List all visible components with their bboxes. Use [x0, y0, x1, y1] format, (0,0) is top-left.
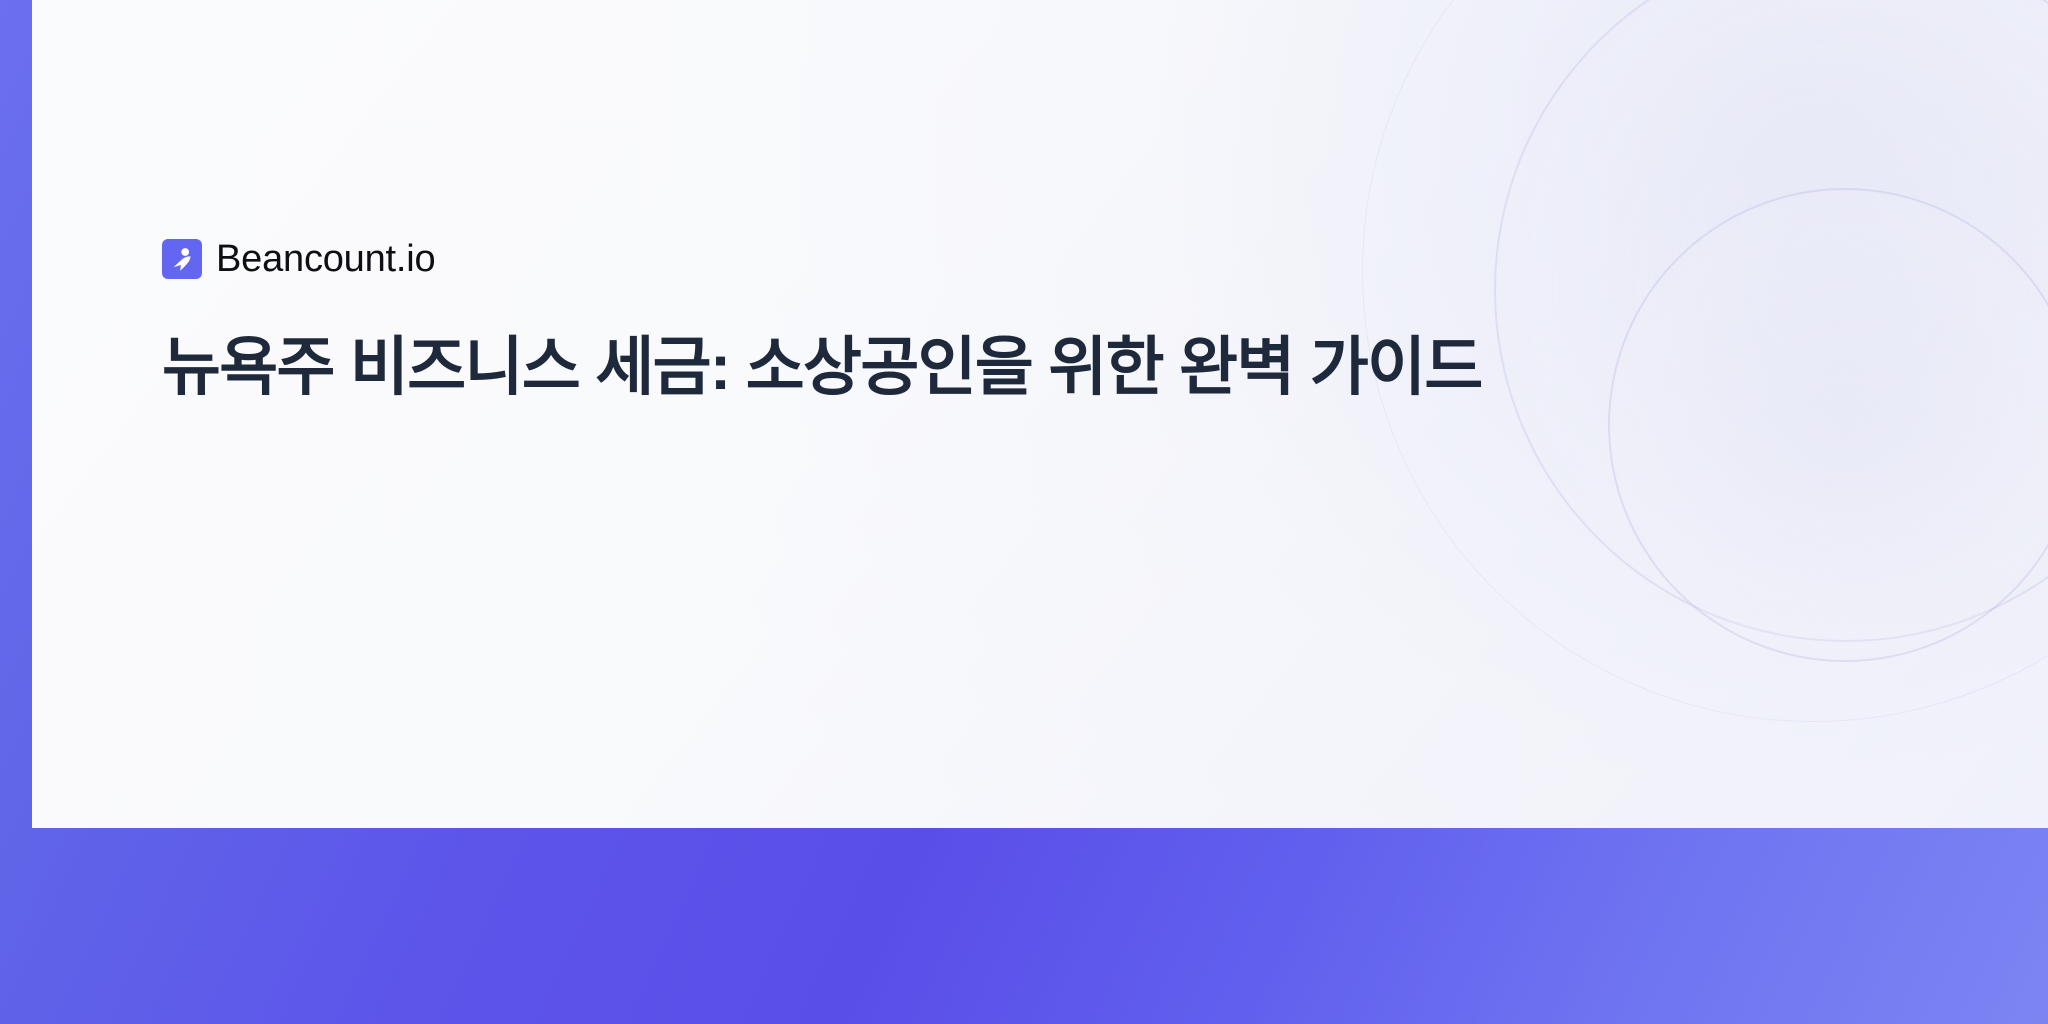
inner-ring-decoration	[1608, 188, 2048, 662]
running-figure-icon	[162, 239, 202, 279]
decorative-rings	[32, 0, 2048, 828]
brand-lockup[interactable]: Beancount.io	[162, 236, 1662, 282]
card-content: Beancount.io 뉴욕주 비즈니스 세금: 소상공인을 위한 완벽 가이…	[162, 236, 1662, 407]
page-title: 뉴욕주 비즈니스 세금: 소상공인을 위한 완벽 가이드	[162, 282, 1492, 407]
social-card-canvas: Beancount.io 뉴욕주 비즈니스 세금: 소상공인을 위한 완벽 가이…	[0, 0, 2048, 1024]
content-card: Beancount.io 뉴욕주 비즈니스 세금: 소상공인을 위한 완벽 가이…	[32, 0, 2048, 828]
brand-name-label: Beancount.io	[216, 240, 435, 278]
